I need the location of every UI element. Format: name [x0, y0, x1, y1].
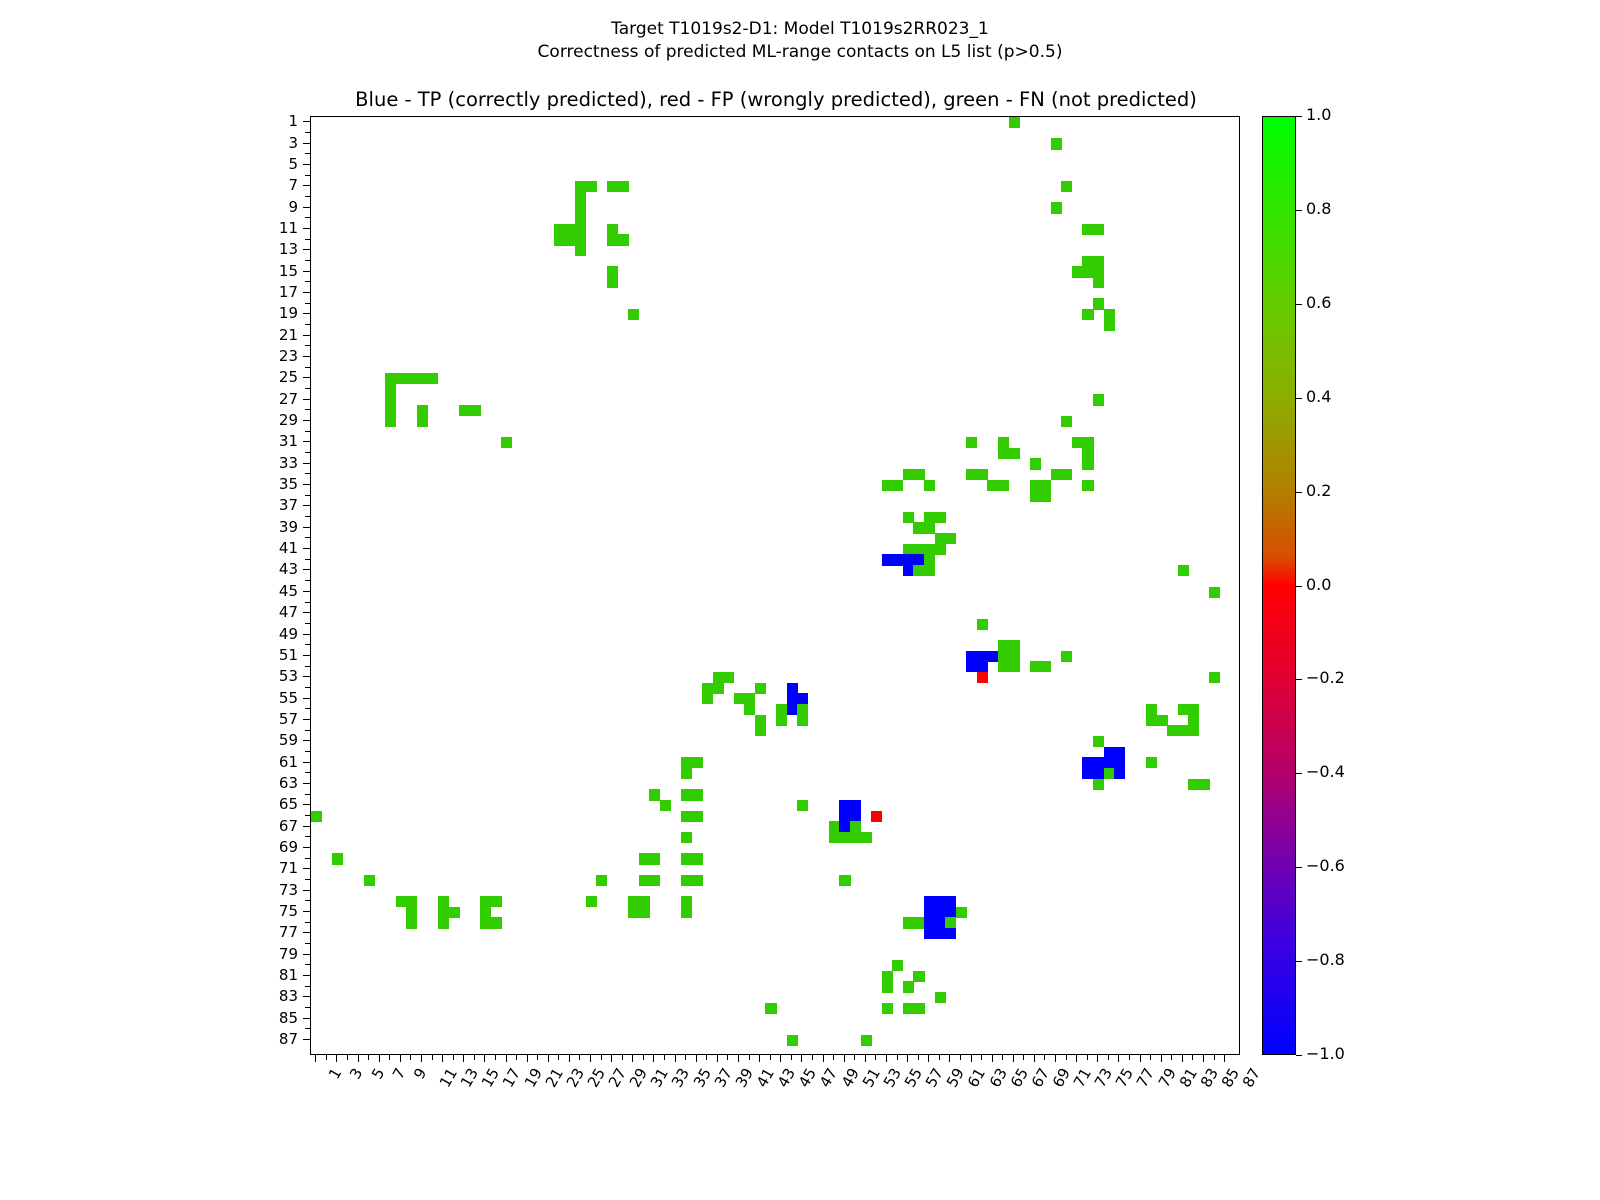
- y-axis-tick: [303, 505, 310, 506]
- y-axis-tick: [303, 420, 310, 421]
- contact-cell-fn: [1104, 320, 1115, 331]
- contact-map-plot[interactable]: [310, 116, 1240, 1055]
- contact-cell-tp: [839, 821, 850, 832]
- x-axis-tick: [992, 1055, 993, 1062]
- contact-cell-tp: [1114, 768, 1125, 779]
- y-axis-tick: [303, 932, 310, 933]
- y-axis-tick: [305, 623, 310, 624]
- x-axis-tick: [368, 1055, 369, 1060]
- contact-cell-fn: [575, 245, 586, 256]
- contact-cell-fn: [1188, 725, 1199, 736]
- contact-cell-fn: [691, 811, 702, 822]
- contact-cell-fn: [945, 533, 956, 544]
- contact-cell-fn: [586, 181, 597, 192]
- contact-cell-tp: [945, 907, 956, 918]
- contact-cell-fn: [596, 875, 607, 886]
- x-axis-tick: [1150, 1055, 1151, 1060]
- y-axis-tick-label: 25: [238, 370, 298, 385]
- y-axis-tick-label: 81: [238, 968, 298, 983]
- contact-cell-fn: [448, 907, 459, 918]
- x-axis-tick: [971, 1055, 972, 1062]
- y-axis-tick: [305, 303, 310, 304]
- contact-cell-fn: [1072, 266, 1083, 277]
- contact-cell-fn: [913, 469, 924, 480]
- contact-cell-fn: [660, 800, 671, 811]
- contact-cell-tp: [913, 554, 924, 565]
- y-axis-tick: [305, 815, 310, 816]
- x-axis-tick: [1171, 1055, 1172, 1060]
- contact-cell-fn: [639, 907, 650, 918]
- y-axis-tick: [303, 911, 310, 912]
- figure-title: Target T1019s2-D1: Model T1019s2RR023_1 …: [0, 18, 1600, 64]
- x-axis-tick: [1203, 1055, 1204, 1062]
- x-axis-tick-label: 71: [1072, 1066, 1095, 1090]
- contact-cell-fn: [966, 437, 977, 448]
- x-axis-tick-label: 87: [1241, 1066, 1264, 1090]
- y-axis-tick: [305, 1007, 310, 1008]
- contact-cell-fn: [1009, 117, 1020, 128]
- contact-cell-fn: [744, 693, 755, 704]
- x-axis-tick: [918, 1055, 919, 1060]
- x-axis-tick: [537, 1055, 538, 1060]
- contact-cell-fn: [438, 917, 449, 928]
- contact-cell-fn: [681, 811, 692, 822]
- x-axis-tick: [1002, 1055, 1003, 1060]
- x-axis-tick: [928, 1055, 929, 1062]
- contact-cell-fn: [649, 853, 660, 864]
- contact-cell-fn: [755, 715, 766, 726]
- contact-cell-fn: [628, 309, 639, 320]
- contact-cell-fn: [649, 875, 660, 886]
- contact-cell-fn: [491, 917, 502, 928]
- contact-cell-fn: [1072, 437, 1083, 448]
- y-axis-tick: [303, 591, 310, 592]
- x-axis-tick-label: 31: [649, 1066, 672, 1090]
- contact-cell-fn: [1146, 704, 1157, 715]
- x-axis-tick-label: 27: [607, 1066, 630, 1090]
- contact-cell-fn: [861, 1035, 872, 1046]
- contact-cell-fn: [1030, 458, 1041, 469]
- contact-cell-fn: [839, 832, 850, 843]
- y-axis-tick: [303, 954, 310, 955]
- contact-cell-fn: [681, 789, 692, 800]
- x-axis-tick: [1087, 1055, 1088, 1060]
- contact-cell-tp: [966, 651, 977, 662]
- x-axis-tick: [717, 1055, 718, 1062]
- contact-cell-fn: [501, 437, 512, 448]
- y-axis-tick: [305, 260, 310, 261]
- contact-cell-tp: [882, 554, 893, 565]
- x-axis-tick-label: 39: [733, 1066, 756, 1090]
- contact-cell-fn: [924, 554, 935, 565]
- contact-cell-fn: [1199, 779, 1210, 790]
- x-axis-tick: [949, 1055, 950, 1062]
- contact-cell-fn: [924, 544, 935, 555]
- x-axis-tick-label: 77: [1135, 1066, 1158, 1090]
- contact-cell-fn: [1051, 469, 1062, 480]
- y-axis-tick: [305, 602, 310, 603]
- contact-cell-fn: [776, 715, 787, 726]
- contact-cell-fn: [829, 832, 840, 843]
- contact-cell-fn: [1093, 394, 1104, 405]
- contact-cell-fn: [406, 917, 417, 928]
- y-axis-tick: [303, 271, 310, 272]
- x-axis-tick: [442, 1055, 443, 1062]
- contact-cell-fn: [607, 181, 618, 192]
- contact-cell-fn: [554, 234, 565, 245]
- y-axis-tick-label: 9: [238, 200, 298, 215]
- y-axis-tick-label: 85: [238, 1011, 298, 1026]
- x-axis-tick: [1214, 1055, 1215, 1060]
- x-axis-tick-label: 25: [585, 1066, 608, 1090]
- contact-cell-fn: [628, 896, 639, 907]
- x-axis-tick-label: 75: [1114, 1066, 1137, 1090]
- x-axis-tick: [675, 1055, 676, 1062]
- y-axis-tick-label: 13: [238, 242, 298, 257]
- contact-cell-fn: [702, 683, 713, 694]
- contact-cell-fn: [628, 907, 639, 918]
- y-axis-tick: [303, 1018, 310, 1019]
- y-axis-tick-label: 47: [238, 605, 298, 620]
- contact-cell-fn: [966, 469, 977, 480]
- y-axis-tick: [303, 121, 310, 122]
- contact-cell-fn: [417, 416, 428, 427]
- contact-cell-fn: [385, 384, 396, 395]
- x-axis-tick: [1129, 1055, 1130, 1060]
- x-axis-tick: [622, 1055, 623, 1060]
- y-axis-tick: [303, 1039, 310, 1040]
- x-axis-tick-label: 33: [670, 1066, 693, 1090]
- contact-cell-fn: [1146, 757, 1157, 768]
- contact-cell-fn: [575, 224, 586, 235]
- y-axis-tick: [303, 655, 310, 656]
- contact-cell-fn: [1061, 469, 1072, 480]
- x-axis-tick-label: 9: [412, 1066, 430, 1082]
- y-axis-tick-label: 39: [238, 520, 298, 535]
- contact-cell-fn: [575, 202, 586, 213]
- y-axis-tick: [305, 879, 310, 880]
- y-axis-tick: [305, 836, 310, 837]
- y-axis-tick: [305, 452, 310, 453]
- contact-cell-fn: [639, 875, 650, 886]
- x-axis-tick: [1118, 1055, 1119, 1062]
- contact-cell-fn: [913, 971, 924, 982]
- contact-cell-fn: [586, 896, 597, 907]
- colorbar-tick: [1296, 961, 1302, 962]
- y-axis-tick-label: 21: [238, 328, 298, 343]
- y-axis-tick: [305, 281, 310, 282]
- contact-cell-fn: [607, 224, 618, 235]
- contact-cell-fn: [892, 480, 903, 491]
- contact-cell-fn: [1188, 779, 1199, 790]
- contact-cell-fn: [1040, 490, 1051, 501]
- contact-cell-fn: [438, 896, 449, 907]
- y-axis-tick-label: 49: [238, 627, 298, 642]
- contact-cell-fn: [1082, 224, 1093, 235]
- contact-cell-fn: [744, 704, 755, 715]
- x-axis-tick: [421, 1055, 422, 1062]
- contact-cell-fn: [1009, 651, 1020, 662]
- title-line-2: Correctness of predicted ML-range contac…: [0, 41, 1600, 64]
- x-axis-tick: [886, 1055, 887, 1062]
- contact-cell-fn: [681, 907, 692, 918]
- contact-cell-fn: [998, 448, 1009, 459]
- y-axis-tick-label: 3: [238, 136, 298, 151]
- x-axis-tick-label: 19: [522, 1066, 545, 1090]
- x-axis-tick-label: 61: [966, 1066, 989, 1090]
- x-axis-tick-label: 21: [543, 1066, 566, 1090]
- colorbar-tick-label: 0.6: [1306, 295, 1331, 311]
- y-axis-tick: [305, 922, 310, 923]
- y-axis-tick-label: 29: [238, 413, 298, 428]
- y-axis-tick: [305, 730, 310, 731]
- y-axis-tick: [303, 313, 310, 314]
- y-axis-tick: [303, 185, 310, 186]
- contact-cell-fn: [691, 853, 702, 864]
- y-axis-tick-label: 53: [238, 669, 298, 684]
- contact-cell-fn: [575, 234, 586, 245]
- y-axis-tick-label: 11: [238, 221, 298, 236]
- y-axis-tick-label: 59: [238, 733, 298, 748]
- colorbar-tick-label: −0.2: [1306, 670, 1345, 686]
- y-axis-tick: [303, 335, 310, 336]
- contact-cell-fn: [935, 533, 946, 544]
- y-axis-tick-label: 79: [238, 947, 298, 962]
- x-axis-tick: [791, 1055, 792, 1060]
- contact-cell-fn: [787, 1035, 798, 1046]
- y-axis-tick: [305, 431, 310, 432]
- contact-cell-fn: [1093, 779, 1104, 790]
- contact-cell-fn: [913, 522, 924, 533]
- y-axis-tick: [303, 143, 310, 144]
- y-axis-tick: [303, 399, 310, 400]
- y-axis-tick: [303, 996, 310, 997]
- contact-cell-fn: [554, 224, 565, 235]
- y-axis-tick: [303, 975, 310, 976]
- y-axis-tick: [305, 559, 310, 560]
- contact-cell-fn: [681, 757, 692, 768]
- y-axis-tick: [305, 900, 310, 901]
- y-axis-tick: [305, 324, 310, 325]
- x-axis-tick: [410, 1055, 411, 1060]
- y-axis-tick: [305, 495, 310, 496]
- colorbar-tick: [1296, 210, 1302, 211]
- y-axis-tick: [305, 666, 310, 667]
- x-axis-tick: [558, 1055, 559, 1060]
- contact-cell-fn: [935, 544, 946, 555]
- contact-cell-tp: [839, 800, 850, 811]
- y-axis-tick: [305, 175, 310, 176]
- contact-cell-fn: [882, 971, 893, 982]
- x-axis-tick: [1108, 1055, 1109, 1060]
- contact-cell-tp: [787, 704, 798, 715]
- contact-cell-fn: [1051, 202, 1062, 213]
- y-axis-tick: [305, 132, 310, 133]
- contact-cell-fn: [406, 896, 417, 907]
- colorbar-tick: [1296, 679, 1302, 680]
- x-axis-tick: [336, 1055, 337, 1062]
- y-axis-tick: [303, 676, 310, 677]
- contact-cell-fn: [1030, 480, 1041, 491]
- contact-cell-fn: [1082, 448, 1093, 459]
- y-axis-tick: [305, 388, 310, 389]
- x-axis-tick-label: 41: [755, 1066, 778, 1090]
- contact-cell-fn: [829, 821, 840, 832]
- y-axis-tick-label: 65: [238, 797, 298, 812]
- y-axis-tick: [305, 751, 310, 752]
- x-axis-tick: [738, 1055, 739, 1062]
- contact-cell-fn: [882, 981, 893, 992]
- y-axis-tick-label: 83: [238, 989, 298, 1004]
- contact-cell-fn: [892, 960, 903, 971]
- contact-cell-tp: [1082, 757, 1093, 768]
- y-axis-tick: [303, 762, 310, 763]
- contact-cell-tp: [903, 565, 914, 576]
- contact-cell-fn: [1093, 736, 1104, 747]
- x-axis-tick: [358, 1055, 359, 1062]
- x-axis-tick-label: 3: [348, 1066, 366, 1082]
- x-axis-tick: [347, 1055, 348, 1060]
- x-axis-tick-label: 55: [903, 1066, 926, 1090]
- contact-cell-fn: [850, 821, 861, 832]
- contact-cell-fn: [903, 917, 914, 928]
- x-axis-tick: [1097, 1055, 1098, 1062]
- x-axis-tick-label: 59: [945, 1066, 968, 1090]
- contact-cell-fn: [691, 875, 702, 886]
- y-axis-tick-label: 23: [238, 349, 298, 364]
- x-axis-tick: [812, 1055, 813, 1060]
- x-axis-tick: [484, 1055, 485, 1062]
- y-axis-tick-label: 69: [238, 840, 298, 855]
- y-axis-tick: [305, 367, 310, 368]
- contact-cell-fn: [702, 693, 713, 704]
- colorbar-tick-label: 1.0: [1306, 107, 1331, 123]
- x-axis-tick: [474, 1055, 475, 1060]
- contact-cell-fp: [977, 672, 988, 683]
- y-axis-tick: [305, 858, 310, 859]
- x-axis-tick: [759, 1055, 760, 1062]
- contact-cell-fn: [1178, 704, 1189, 715]
- contact-cell-fn: [565, 224, 576, 235]
- x-axis-tick: [749, 1055, 750, 1060]
- y-axis-tick-label: 55: [238, 691, 298, 706]
- contact-cell-fn: [924, 522, 935, 533]
- y-axis-tick: [305, 943, 310, 944]
- contact-cell-fn: [734, 693, 745, 704]
- x-axis-tick-label: 63: [987, 1066, 1010, 1090]
- contact-cell-fn: [913, 917, 924, 928]
- x-axis-tick: [611, 1055, 612, 1062]
- x-axis-tick: [569, 1055, 570, 1062]
- contact-cell-fn: [882, 1003, 893, 1014]
- x-axis-tick: [1076, 1055, 1077, 1062]
- contact-cell-fn: [575, 192, 586, 203]
- colorbar-tick-label: 0.2: [1306, 483, 1331, 499]
- y-axis-tick: [303, 292, 310, 293]
- contact-cell-fn: [1082, 480, 1093, 491]
- x-axis-tick: [1224, 1055, 1225, 1062]
- y-axis-tick-label: 41: [238, 541, 298, 556]
- contact-cell-fn: [913, 565, 924, 576]
- contact-cell-fn: [1167, 725, 1178, 736]
- y-axis-tick-label: 45: [238, 584, 298, 599]
- contact-cell-fn: [406, 907, 417, 918]
- contact-cell-fn: [924, 480, 935, 491]
- contact-cell-fn: [681, 896, 692, 907]
- contact-cell-fn: [385, 416, 396, 427]
- contact-cell-fn: [903, 512, 914, 523]
- contact-cell-tp: [1104, 747, 1115, 758]
- y-axis-tick: [305, 473, 310, 474]
- y-axis-tick-label: 75: [238, 904, 298, 919]
- y-axis-tick-label: 51: [238, 648, 298, 663]
- contact-cell-fn: [1030, 661, 1041, 672]
- x-axis-tick-label: 15: [480, 1066, 503, 1090]
- colorbar-tick: [1296, 492, 1302, 493]
- contact-cell-fn: [1082, 458, 1093, 469]
- contact-cell-fn: [691, 757, 702, 768]
- y-axis-tick: [303, 890, 310, 891]
- x-axis-tick: [780, 1055, 781, 1062]
- contact-cell-fn: [1093, 277, 1104, 288]
- colorbar-tick-label: 0.8: [1306, 201, 1331, 217]
- contact-cell-fn: [913, 544, 924, 555]
- y-axis-tick-label: 71: [238, 861, 298, 876]
- contact-cell-tp: [924, 907, 935, 918]
- y-axis-tick: [303, 847, 310, 848]
- x-axis-tick-label: 53: [881, 1066, 904, 1090]
- x-axis-tick-label: 65: [1008, 1066, 1031, 1090]
- y-axis-tick: [303, 548, 310, 549]
- y-axis-tick-label: 37: [238, 498, 298, 513]
- contact-cell-fn: [861, 832, 872, 843]
- contact-cell-fn: [797, 704, 808, 715]
- colorbar-tick-label: −1.0: [1306, 1046, 1345, 1062]
- x-axis-tick: [1013, 1055, 1014, 1062]
- y-axis-tick: [303, 228, 310, 229]
- y-axis-tick: [305, 196, 310, 197]
- contact-cell-fn: [1009, 661, 1020, 672]
- x-axis-tick-label: 69: [1050, 1066, 1073, 1090]
- x-axis-tick-label: 47: [818, 1066, 841, 1090]
- contact-cell-fn: [396, 896, 407, 907]
- y-axis-tick: [303, 164, 310, 165]
- y-axis-tick: [303, 868, 310, 869]
- x-axis-tick: [981, 1055, 982, 1060]
- x-axis-tick-label: 13: [459, 1066, 482, 1090]
- contact-cell-fn: [607, 234, 618, 245]
- colorbar-tick: [1296, 116, 1302, 117]
- y-axis-tick: [305, 644, 310, 645]
- contact-cell-fn: [1009, 640, 1020, 651]
- y-axis-tick: [303, 207, 310, 208]
- contact-cell-fn: [396, 373, 407, 384]
- contact-cell-fn: [607, 266, 618, 277]
- contact-cell-fn: [987, 480, 998, 491]
- colorbar-tick: [1296, 586, 1302, 587]
- x-axis-tick-label: 45: [797, 1066, 820, 1090]
- y-axis-tick-label: 61: [238, 755, 298, 770]
- x-axis-tick: [1192, 1055, 1193, 1060]
- contact-cell-fn: [480, 917, 491, 928]
- contact-cell-fn: [364, 875, 375, 886]
- contact-cell-tp: [966, 661, 977, 672]
- colorbar-tick: [1296, 773, 1302, 774]
- contact-cell-fn: [755, 725, 766, 736]
- contact-cell-fn: [797, 715, 808, 726]
- y-axis-tick: [303, 569, 310, 570]
- contact-cell-fn: [681, 768, 692, 779]
